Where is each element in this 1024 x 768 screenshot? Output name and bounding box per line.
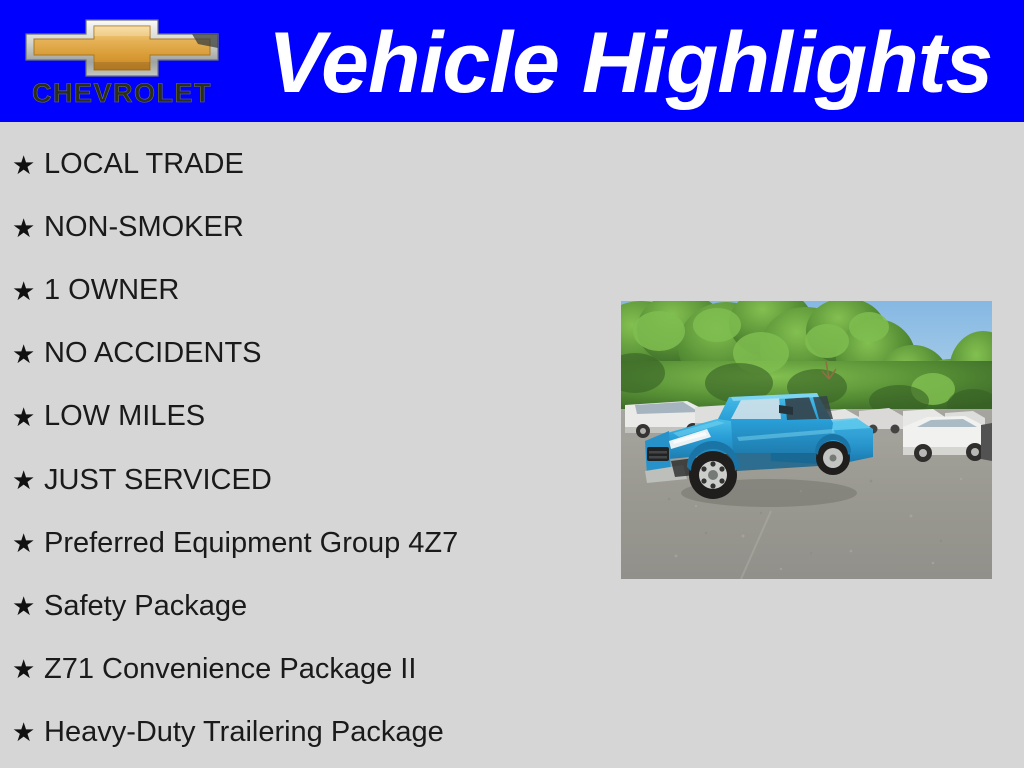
list-item-label: NO ACCIDENTS bbox=[44, 339, 262, 368]
chevrolet-wordmark: CHEVROLET bbox=[22, 80, 222, 107]
star-bullet-icon: ★ bbox=[12, 404, 44, 430]
list-item: ★ JUST SERVICED bbox=[0, 448, 600, 511]
list-item-label: LOW MILES bbox=[44, 402, 205, 431]
chevrolet-bowtie-icon bbox=[22, 14, 222, 82]
star-bullet-icon: ★ bbox=[12, 719, 44, 745]
list-item-label: Preferred Equipment Group 4Z7 bbox=[44, 529, 458, 558]
list-item-label: Safety Package bbox=[44, 592, 247, 621]
list-item: ★ LOW MILES bbox=[0, 385, 600, 448]
star-bullet-icon: ★ bbox=[12, 152, 44, 178]
list-item-label: JUST SERVICED bbox=[44, 466, 272, 495]
star-bullet-icon: ★ bbox=[12, 656, 44, 682]
list-item-label: LOCAL TRADE bbox=[44, 150, 244, 179]
star-bullet-icon: ★ bbox=[12, 215, 44, 241]
page-title: Vehicle Highlights bbox=[268, 13, 1008, 113]
chevrolet-logo: CHEVROLET bbox=[22, 14, 222, 112]
star-bullet-icon: ★ bbox=[12, 341, 44, 367]
star-bullet-icon: ★ bbox=[12, 530, 44, 556]
list-item: ★ NO ACCIDENTS bbox=[0, 322, 600, 385]
list-item: ★ Safety Package bbox=[0, 575, 600, 638]
vehicle-photo bbox=[621, 301, 992, 579]
list-item: ★ Heavy-Duty Trailering Package bbox=[0, 701, 600, 764]
vehicle-photo-image bbox=[621, 301, 992, 579]
list-item-label: NON-SMOKER bbox=[44, 213, 244, 242]
highlights-list: ★ LOCAL TRADE ★ NON-SMOKER ★ 1 OWNER ★ N… bbox=[0, 133, 600, 764]
star-bullet-icon: ★ bbox=[12, 467, 44, 493]
list-item: ★ Z71 Convenience Package II bbox=[0, 638, 600, 701]
list-item-label: Z71 Convenience Package II bbox=[44, 655, 416, 684]
list-item: ★ NON-SMOKER bbox=[0, 196, 600, 259]
list-item-label: 1 OWNER bbox=[44, 276, 179, 305]
header-bar: CHEVROLET Vehicle Highlights bbox=[0, 0, 1024, 122]
list-item: ★ Preferred Equipment Group 4Z7 bbox=[0, 512, 600, 575]
list-item: ★ LOCAL TRADE bbox=[0, 133, 600, 196]
list-item: ★ 1 OWNER bbox=[0, 259, 600, 322]
star-bullet-icon: ★ bbox=[12, 593, 44, 619]
star-bullet-icon: ★ bbox=[12, 278, 44, 304]
list-item-label: Heavy-Duty Trailering Package bbox=[44, 718, 444, 747]
